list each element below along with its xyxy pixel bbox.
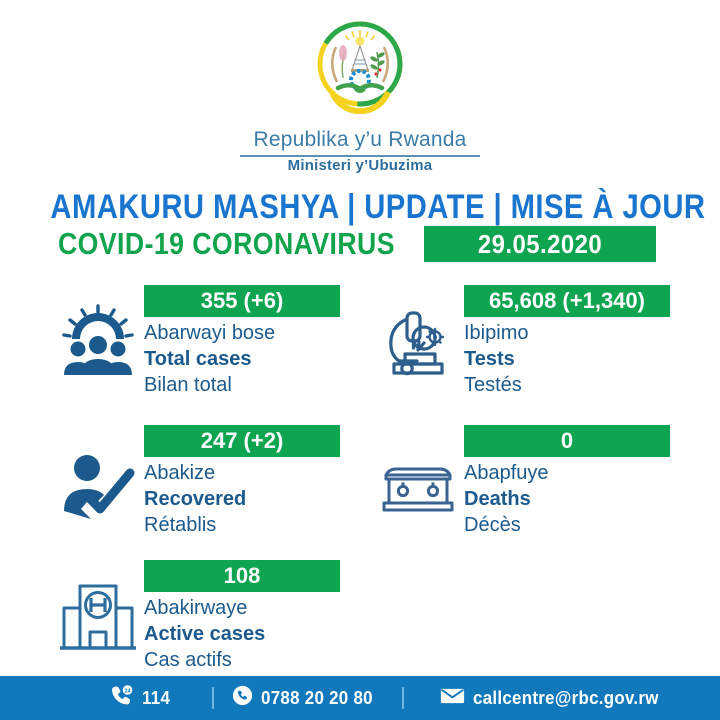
footer-divider-2 [402,687,404,709]
hotline-number: 114 [142,688,170,709]
label-kinyarwanda: Abakize [144,460,368,486]
stat-active-cases: 108 Abakirwaye Active cases Cas actifs [48,560,368,685]
ministry-name: Ministeri y’Ubuzima [0,157,720,174]
hospital-icon [54,574,142,662]
stat-body: 355 (+6) Abarwayi bose Total cases Bilan… [144,285,368,398]
label-kinyarwanda: Ibipimo [464,320,688,346]
stat-value: 108 [224,560,261,592]
email-contact[interactable]: callcentre@rbc.gov.rw [440,676,671,720]
stat-recovered: 247 (+2) Abakize Recovered Rétablis [48,425,368,550]
label-french: Cas actifs [144,647,368,673]
value-badge: 247 (+2) [144,425,340,457]
label-english: Recovered [144,486,368,512]
label-english: Active cases [144,621,368,647]
label-kinyarwanda: Abakirwaye [144,595,368,621]
stat-body: 108 Abakirwaye Active cases Cas actifs [144,560,368,673]
label-french: Testés [464,372,688,398]
coffin-icon [374,453,462,541]
infographic-page: Republika y’u Rwanda Ministeri y’Ubuzima… [0,0,720,720]
banner-title-line1: AMAKURU MASHYA | UPDATE | MISE À JOUR [50,188,669,227]
whatsapp-number: 0788 20 20 80 [261,688,373,709]
stat-body: 0 Abapfuye Deaths Décès [464,425,688,538]
rwanda-coat-of-arms-icon [310,14,410,114]
label-french: Rétablis [144,512,368,538]
value-badge: 0 [464,425,670,457]
value-badge: 355 (+6) [144,285,340,317]
label-french: Décès [464,512,688,538]
date-badge: 29.05.2020 [424,226,656,262]
label-kinyarwanda: Abapfuye [464,460,688,486]
label-english: Tests [464,346,688,372]
microscope-icon [374,299,462,387]
label-english: Total cases [144,346,368,372]
stat-total-cases: 355 (+6) Abarwayi bose Total cases Bilan… [48,285,368,410]
banner-title-row2: COVID-19 CORONAVIRUS 29.05.2020 [0,227,720,263]
virus-people-icon [54,299,142,387]
country-name: Republika y’u Rwanda [0,128,720,152]
label-kinyarwanda: Abarwayi bose [144,320,368,346]
stat-body: 247 (+2) Abakize Recovered Rétablis [144,425,368,538]
value-badge: 65,608 (+1,340) [464,285,670,317]
stat-value: 0 [561,425,573,457]
value-badge: 108 [144,560,340,592]
label-english: Deaths [464,486,688,512]
stat-value: 65,608 (+1,340) [489,285,645,317]
hotline-contact[interactable]: 24 114 [110,676,172,720]
date-value: 29.05.2020 [433,226,646,262]
phone-24h-icon: 24 [110,684,134,713]
stat-value: 247 (+2) [201,425,284,457]
envelope-icon [440,687,465,710]
email-address: callcentre@rbc.gov.rw [473,688,659,709]
svg-text:24: 24 [124,688,131,694]
person-check-icon [54,439,142,527]
contact-footer: 24 114 0788 20 20 80 cal [0,676,720,720]
whatsapp-contact[interactable]: 0788 20 20 80 [232,676,380,720]
banner-title-line2: COVID-19 CORONAVIRUS [58,227,368,261]
footer-divider-1 [212,687,214,709]
stat-tests: 65,608 (+1,340) Ibipimo Tests Testés [368,285,688,410]
stat-value: 355 (+6) [201,285,284,317]
label-french: Bilan total [144,372,368,398]
whatsapp-icon [232,685,253,711]
stat-deaths: 0 Abapfuye Deaths Décès [368,425,688,550]
stat-body: 65,608 (+1,340) Ibipimo Tests Testés [464,285,688,398]
coat-of-arms-container [0,14,720,119]
